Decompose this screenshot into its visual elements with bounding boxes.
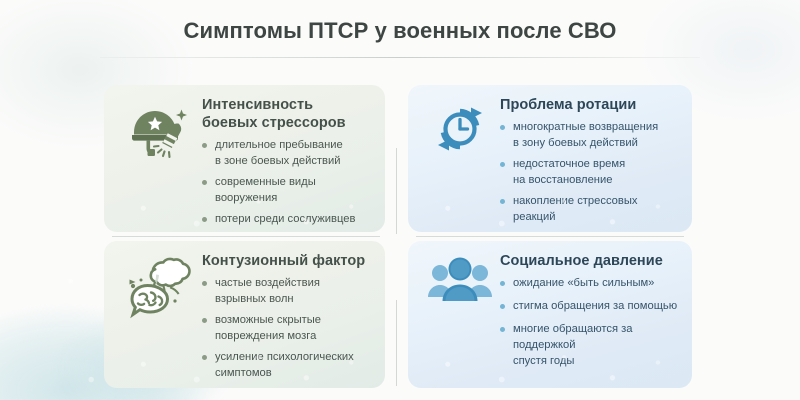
list-item: современные виды вооружения [202,175,375,207]
people-group-icon [427,257,493,309]
list-item: потери среди сослуживцев [202,212,375,228]
military-helmet-icon [124,99,194,169]
clock-rotation-icon [430,99,490,159]
card-heading: Проблема ротации [500,97,682,115]
sparkle-icon [176,110,187,121]
card-combat-stressors[interactable]: Интенсивность боевых стрессоров длительн… [104,85,385,232]
row-divider-right [416,236,684,237]
list-item: усиление психологических симптомов [202,350,375,382]
impact-lines [154,146,170,157]
list-item: ожидание «быть сильным» [500,276,682,292]
list-item: накопление стрессовых реакций [500,194,682,226]
list-item: недостаточное время на восстановление [500,157,682,189]
column-divider-bottom [396,300,397,386]
title-block: Симптомы ПТСР у военных после СВО [100,18,700,58]
arrow-head-bottom [438,140,449,151]
list-item: стигма обращения за помощью [500,299,682,315]
list-item: многие обращаются за поддержкой спустя г… [500,322,682,370]
brain-blast-icon [123,255,195,321]
card-icon-wrap [116,95,202,224]
row-divider-left [112,236,380,237]
card-bullet-list: ожидание «быть сильным» стигма обращения… [500,276,682,370]
card-bullet-list: многократные возвращения в зону боевых д… [500,120,682,225]
card-bullet-list: длительное пребывание в зоне боевых дейс… [202,138,375,228]
card-rotation-problem[interactable]: Проблема ротации многократные возвращени… [408,85,692,232]
center-person [443,258,478,302]
list-item: длительное пребывание в зоне боевых дейс… [202,138,375,170]
title-divider [100,57,700,58]
list-item: возможные скрытые повреждения мозга [202,313,375,345]
page-title: Симптомы ПТСР у военных после СВО [100,18,700,44]
card-icon-wrap [420,251,500,380]
card-bullet-list: частые воздействия взрывных волн возможн… [202,276,375,381]
card-heading: Социальное давление [500,253,682,271]
brain-shape [132,286,168,315]
arrow-head-top [471,108,482,119]
list-item: многократные возвращения в зону боевых д… [500,120,682,152]
card-icon-wrap [420,95,500,224]
card-social-pressure[interactable]: Социальное давление ожидание «быть сильн… [408,241,692,388]
column-divider-top [396,148,397,234]
infographic-slide: Симптомы ПТСР у военных после СВО [0,0,800,400]
card-icon-wrap [116,251,202,380]
card-heading: Интенсивность боевых стрессоров [202,97,375,133]
card-heading: Контузионный фактор [202,253,375,271]
card-concussion-factor[interactable]: Контузионный фактор частые воздействия в… [104,241,385,388]
list-item: частые воздействия взрывных волн [202,276,375,308]
